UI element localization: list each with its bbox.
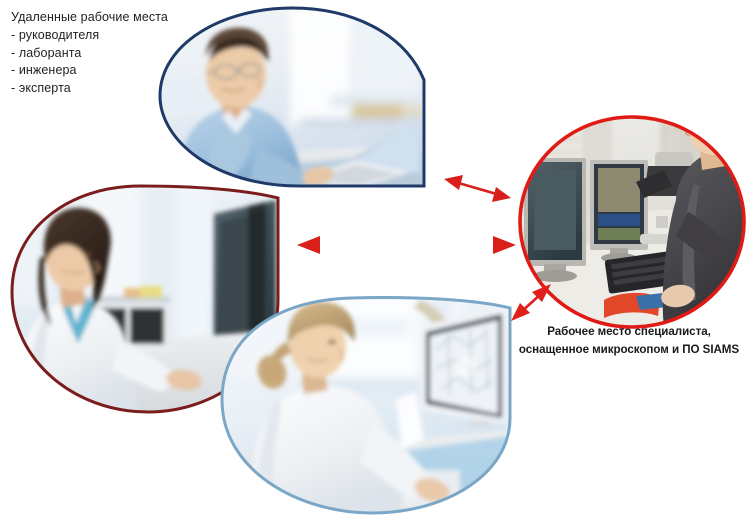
specialist-caption-line1: Рабочее место специалиста, bbox=[508, 323, 750, 341]
node-specialist[interactable] bbox=[518, 84, 750, 330]
diagram-canvas: Удаленные рабочие места - руководителя -… bbox=[0, 0, 750, 521]
legend-item-manager: - руководителя bbox=[11, 27, 226, 45]
specialist-caption-line2: оснащенное микроскопом и ПО SIAMS bbox=[508, 341, 750, 359]
arrow-laborant-specialist bbox=[297, 236, 516, 254]
specialist-caption: Рабочее место специалиста, оснащенное ми… bbox=[508, 323, 750, 358]
legend-item-laborant: - лаборанта bbox=[11, 45, 226, 63]
arrow-manager-specialist bbox=[444, 175, 511, 202]
legend-heading: Удаленные рабочие места bbox=[11, 9, 226, 27]
legend-item-engineer: - инженера bbox=[11, 62, 226, 80]
legend-block: Удаленные рабочие места - руководителя -… bbox=[11, 9, 226, 98]
arrow-engineer-specialist bbox=[511, 284, 551, 321]
node-engineer[interactable] bbox=[215, 292, 515, 521]
legend-item-expert: - эксперта bbox=[11, 80, 226, 98]
